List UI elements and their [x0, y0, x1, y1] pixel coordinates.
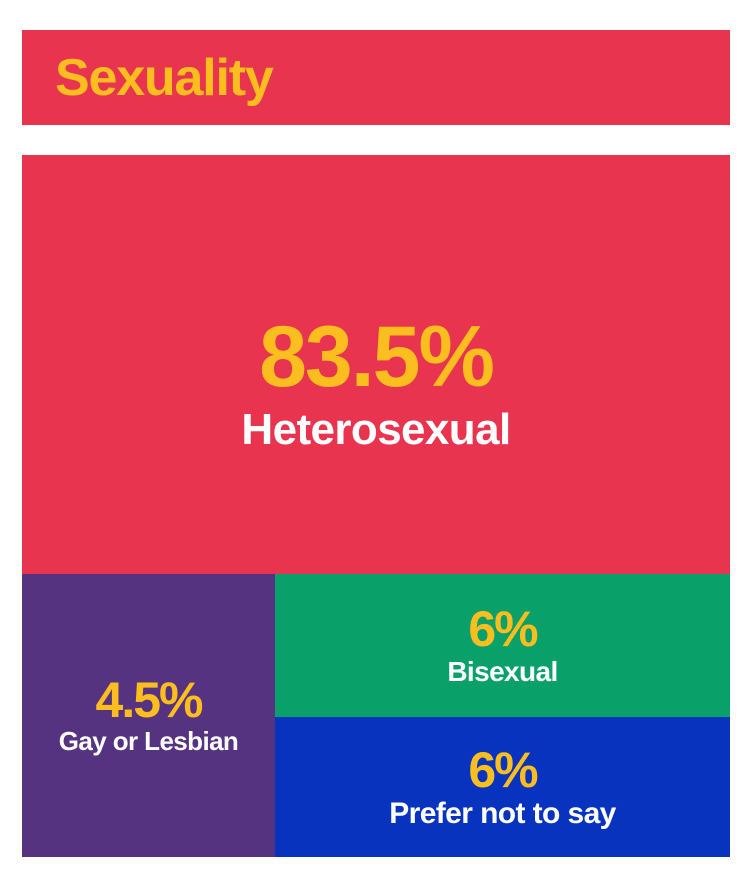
tile-label-bisexual: Bisexual: [447, 657, 557, 686]
tile-value-heterosexual: 83.5%: [259, 314, 493, 402]
page-title: Sexuality: [55, 52, 273, 104]
tile-value-bisexual: 6%: [468, 604, 536, 655]
tile-label-gay-or-lesbian: Gay or Lesbian: [59, 728, 238, 755]
tile-value-prefer-not-to-say: 6%: [468, 745, 536, 796]
tile-value-gay-or-lesbian: 4.5%: [96, 675, 202, 726]
header-bar: Sexuality: [22, 30, 730, 125]
treemap-tile-bisexual[interactable]: 6% Bisexual: [275, 574, 730, 717]
treemap-tile-prefer-not-to-say[interactable]: 6% Prefer not to say: [275, 717, 730, 857]
sexuality-infographic: Sexuality 83.5% Heterosexual 4.5% Gay or…: [0, 0, 754, 891]
treemap-tile-heterosexual[interactable]: 83.5% Heterosexual: [22, 155, 730, 574]
tile-label-heterosexual: Heterosexual: [241, 407, 510, 453]
tile-label-prefer-not-to-say: Prefer not to say: [389, 798, 616, 830]
treemap-chart: 83.5% Heterosexual 4.5% Gay or Lesbian 6…: [22, 155, 730, 857]
treemap-tile-gay-or-lesbian[interactable]: 4.5% Gay or Lesbian: [22, 574, 275, 857]
